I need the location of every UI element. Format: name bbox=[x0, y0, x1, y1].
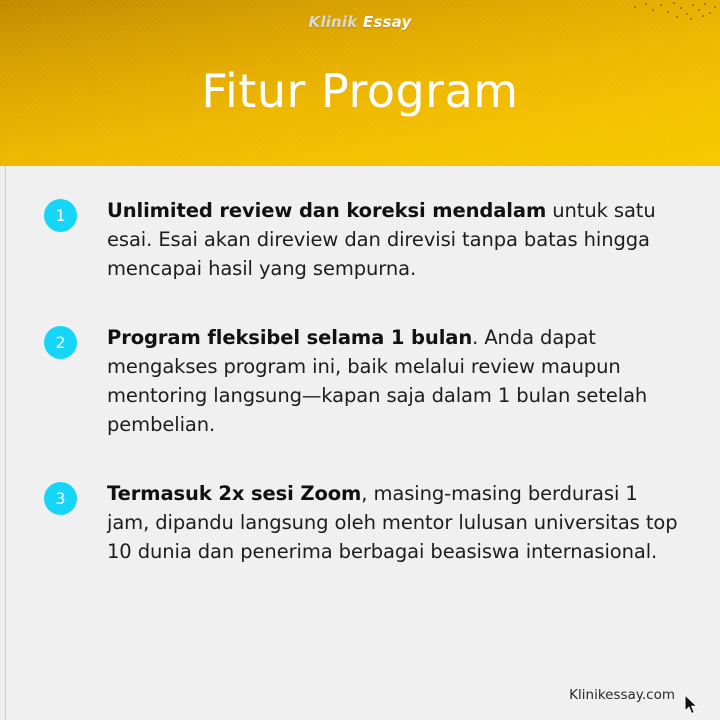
feature-item-2: 2 Program fleksibel selama 1 bulan. Anda… bbox=[0, 323, 720, 439]
feature-headline-1: Unlimited review dan koreksi mendalam bbox=[107, 199, 546, 222]
brand-logo-part2: Essay bbox=[363, 13, 412, 31]
brand-logo-part1: Klinik bbox=[309, 13, 358, 31]
feature-headline-2: Program fleksibel selama 1 bulan bbox=[107, 326, 472, 349]
feature-number-badge-3: 3 bbox=[44, 482, 77, 515]
feature-number-badge-1: 1 bbox=[44, 199, 77, 232]
feature-text-3: Termasuk 2x sesi Zoom, masing-masing ber… bbox=[107, 479, 684, 566]
page-title: Fitur Program bbox=[0, 62, 720, 120]
mouse-pointer-icon bbox=[684, 694, 699, 716]
brand-logo[interactable]: Klinik Essay bbox=[0, 12, 720, 32]
feature-list: 1 Unlimited review dan koreksi mendalam … bbox=[0, 166, 720, 566]
feature-item-1: 1 Unlimited review dan koreksi mendalam … bbox=[0, 196, 720, 283]
slide-page: Klinik Essay Fitur Program 1 Unlimited r… bbox=[0, 0, 720, 720]
feature-headline-3: Termasuk 2x sesi Zoom bbox=[107, 482, 361, 505]
feature-number-badge-2: 2 bbox=[44, 326, 77, 359]
feature-item-3: 3 Termasuk 2x sesi Zoom, masing-masing b… bbox=[0, 479, 720, 566]
feature-text-1: Unlimited review dan koreksi mendalam un… bbox=[107, 196, 684, 283]
header-banner: Klinik Essay Fitur Program bbox=[0, 0, 720, 166]
feature-text-2: Program fleksibel selama 1 bulan. Anda d… bbox=[107, 323, 684, 439]
footer-website[interactable]: Klinikessay.com bbox=[569, 686, 675, 704]
